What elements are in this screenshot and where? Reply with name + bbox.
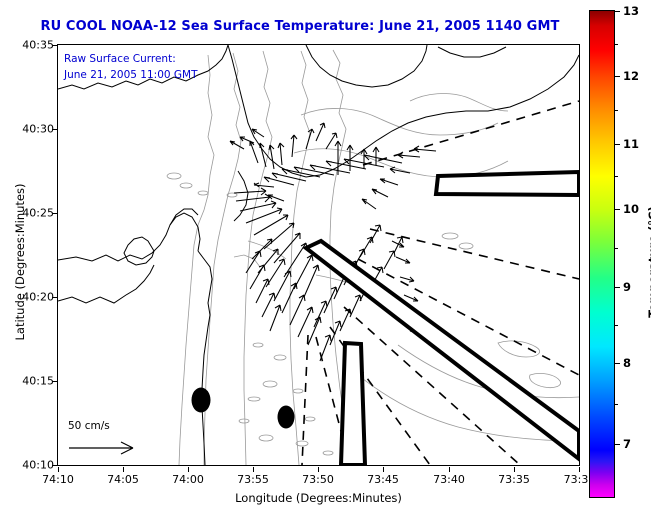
colorbar-tick-label: 7: [623, 437, 631, 451]
x-tick-label: 74:10: [42, 473, 74, 486]
colorbar-tick-label: 9: [623, 280, 631, 294]
colorbar-tick: [615, 76, 620, 77]
x-tick-label: 73:45: [367, 473, 399, 486]
y-tick-label: 40:15: [22, 375, 54, 388]
station-marker: [278, 406, 295, 429]
figure-root: RU COOL NOAA-12 Sea Surface Temperature:…: [0, 0, 651, 515]
colorbar-tick-label: 13: [623, 4, 639, 18]
colorbar-minor-tick: [615, 176, 618, 177]
x-tick: [318, 467, 319, 472]
x-tick-label: 74:05: [107, 473, 139, 486]
x-tick: [188, 467, 189, 472]
colorbar-minor-tick: [615, 325, 618, 326]
x-tick-label: 73:40: [433, 473, 465, 486]
colorbar-tick: [615, 209, 620, 210]
colorbar-tick: [615, 11, 620, 12]
x-tick: [579, 467, 580, 472]
colorbar-tick: [615, 144, 620, 145]
station-markers: [192, 388, 295, 429]
y-tick-label: 40:20: [22, 291, 54, 304]
y-tick-label: 40:30: [22, 123, 54, 136]
colorbar-tick: [615, 444, 620, 445]
colorbar-tick: [615, 287, 620, 288]
x-tick-label: 73:50: [302, 473, 334, 486]
shipping-lanes: [306, 172, 579, 465]
x-axis-label: Longitude (Degrees:Minutes): [57, 491, 580, 505]
colorbar-minor-tick: [615, 404, 618, 405]
scale-legend: 50 cm/s: [61, 420, 169, 464]
annotation-line-1: Raw Surface Current:: [64, 53, 176, 65]
colorbar-tick-label: 12: [623, 69, 639, 83]
colorbar-minor-tick: [615, 248, 618, 249]
x-tick: [449, 467, 450, 472]
x-tick: [253, 467, 254, 472]
colorbar-tick-label: 11: [623, 137, 639, 151]
colorbar-tick: [615, 363, 620, 364]
figure-title: RU COOL NOAA-12 Sea Surface Temperature:…: [0, 19, 600, 34]
x-tick: [514, 467, 515, 472]
station-marker: [192, 388, 211, 413]
x-tick-label: 73:35: [498, 473, 530, 486]
colorbar-minor-tick: [615, 110, 618, 111]
colorbar-minor-tick: [615, 44, 618, 45]
x-tick: [383, 467, 384, 472]
annotation-line-2: June 21, 2005 11:00 GMT: [64, 69, 198, 81]
y-tick-label: 40:10: [22, 459, 54, 472]
x-tick: [58, 467, 59, 472]
colorbar: [589, 10, 615, 498]
y-axis-label: Latitude (Degrees:Minutes): [13, 172, 27, 352]
x-tick-label: 73:3: [564, 473, 589, 486]
colorbar-title: Temperature (°C): [646, 192, 651, 332]
map-canvas: [58, 45, 579, 465]
x-tick-label: 73:55: [237, 473, 269, 486]
y-tick-label: 40:25: [22, 207, 54, 220]
map-plot-area: Raw Surface Current: June 21, 2005 11:00…: [57, 44, 580, 466]
colorbar-tick-label: 10: [623, 202, 639, 216]
right-arrow-icon: [61, 420, 169, 464]
colorbar-tick-label: 8: [623, 356, 631, 370]
x-tick-label: 74:00: [172, 473, 204, 486]
y-tick-label: 40:35: [22, 39, 54, 52]
x-tick: [123, 467, 124, 472]
